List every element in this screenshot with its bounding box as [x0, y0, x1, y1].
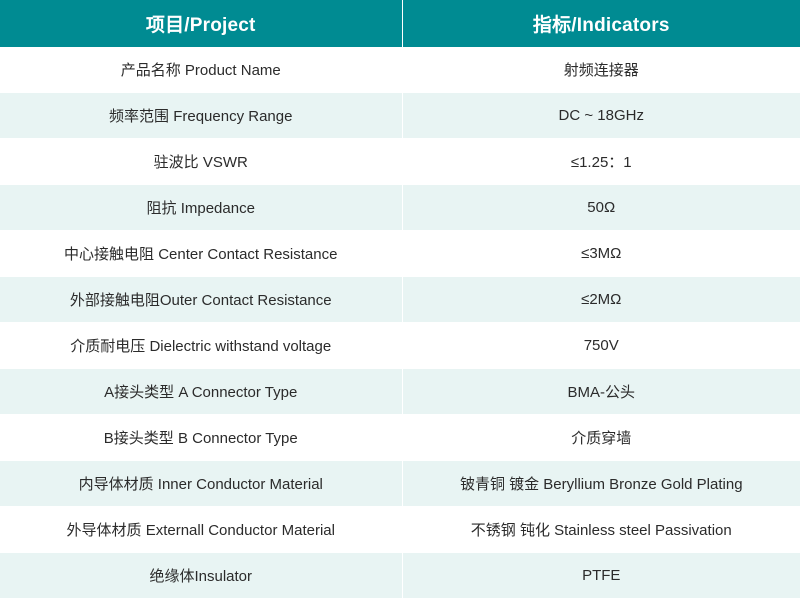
column-header-project: 项目/Project [0, 0, 402, 47]
cell-indicator: 射频连接器 [402, 47, 800, 93]
table-body: 产品名称 Product Name 射频连接器 频率范围 Frequency R… [0, 47, 800, 599]
cell-project: 驻波比 VSWR [0, 139, 402, 185]
table-row: 内导体材质 Inner Conductor Material 铍青铜 镀金 Be… [0, 461, 800, 507]
specification-table: 项目/Project 指标/Indicators 产品名称 Product Na… [0, 0, 800, 599]
cell-indicator: DC ~ 18GHz [402, 93, 800, 139]
cell-indicator: 750V [402, 323, 800, 369]
table-header-row: 项目/Project 指标/Indicators [0, 0, 800, 47]
cell-project: 外部接触电阻Outer Contact Resistance [0, 277, 402, 323]
cell-project: 产品名称 Product Name [0, 47, 402, 93]
table-row: 外导体材质 Externall Conductor Material 不锈钢 钝… [0, 507, 800, 553]
cell-indicator: PTFE [402, 553, 800, 599]
cell-project: 中心接触电阻 Center Contact Resistance [0, 231, 402, 277]
table-row: B接头类型 B Connector Type 介质穿墙 [0, 415, 800, 461]
cell-project: 外导体材质 Externall Conductor Material [0, 507, 402, 553]
cell-project: 内导体材质 Inner Conductor Material [0, 461, 402, 507]
cell-project: 阻抗 Impedance [0, 185, 402, 231]
table-row: 产品名称 Product Name 射频连接器 [0, 47, 800, 93]
cell-indicator: ≤1.25：1 [402, 139, 800, 185]
cell-indicator: 不锈钢 钝化 Stainless steel Passivation [402, 507, 800, 553]
cell-indicator: 铍青铜 镀金 Beryllium Bronze Gold Plating [402, 461, 800, 507]
cell-indicator: ≤2MΩ [402, 277, 800, 323]
table-row: 频率范围 Frequency Range DC ~ 18GHz [0, 93, 800, 139]
table-row: 外部接触电阻Outer Contact Resistance ≤2MΩ [0, 277, 800, 323]
cell-project: A接头类型 A Connector Type [0, 369, 402, 415]
table-row: 中心接触电阻 Center Contact Resistance ≤3MΩ [0, 231, 800, 277]
table-row: 驻波比 VSWR ≤1.25：1 [0, 139, 800, 185]
cell-indicator: 50Ω [402, 185, 800, 231]
cell-project: B接头类型 B Connector Type [0, 415, 402, 461]
table-header: 项目/Project 指标/Indicators [0, 0, 800, 47]
table-row: 阻抗 Impedance 50Ω [0, 185, 800, 231]
table-row: 绝缘体Insulator PTFE [0, 553, 800, 599]
cell-indicator: 介质穿墙 [402, 415, 800, 461]
cell-indicator: ≤3MΩ [402, 231, 800, 277]
table-row: 介质耐电压 Dielectric withstand voltage 750V [0, 323, 800, 369]
cell-project: 绝缘体Insulator [0, 553, 402, 599]
cell-project: 频率范围 Frequency Range [0, 93, 402, 139]
cell-indicator: BMA-公头 [402, 369, 800, 415]
cell-project: 介质耐电压 Dielectric withstand voltage [0, 323, 402, 369]
column-header-indicators: 指标/Indicators [402, 0, 800, 47]
table-row: A接头类型 A Connector Type BMA-公头 [0, 369, 800, 415]
